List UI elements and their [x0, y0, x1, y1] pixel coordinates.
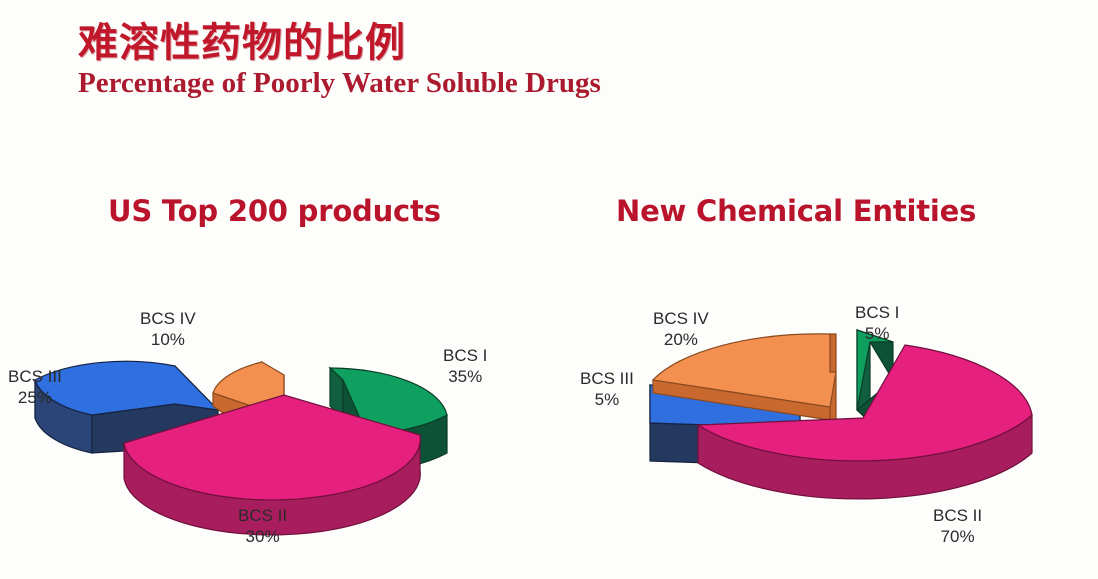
slide-canvas: 难溶性药物的比例 Percentage of Poorly Water Solu…	[0, 0, 1098, 579]
pie-label-bcs-ii-right: BCS II 70%	[933, 505, 982, 548]
pie-label-bcs-i-left: BCS I 35%	[443, 345, 487, 388]
pie-label-bcs-ii-left: BCS II 30%	[238, 505, 287, 548]
pie-label-bcs-iv-right: BCS IV 20%	[653, 308, 709, 351]
pie-chart-new-chemical-entities: BCS IV 20% BCS III 5% BCS I 5% BCS II 70…	[545, 270, 1098, 570]
pie-chart-new-chemical-entities-graphic	[545, 270, 1098, 570]
pie-chart-us-top-200: BCS IV 10% BCS III 25% BCS I 35% BCS II …	[0, 270, 560, 570]
pie-label-bcs-iv-left: BCS IV 10%	[140, 308, 196, 351]
pie-label-bcs-iii-left: BCS III 25%	[8, 366, 62, 409]
pie-label-bcs-i-right: BCS I 5%	[855, 302, 899, 345]
chart-heading-new-chemical-entities: New Chemical Entities	[616, 194, 976, 228]
pie-label-bcs-iii-right: BCS III 5%	[580, 368, 634, 411]
page-title-chinese: 难溶性药物的比例	[78, 22, 601, 65]
page-title-english: Percentage of Poorly Water Soluble Drugs	[78, 67, 601, 99]
slide-title-block: 难溶性药物的比例 Percentage of Poorly Water Solu…	[78, 22, 601, 100]
chart-heading-us-top-200: US Top 200 products	[108, 194, 441, 228]
